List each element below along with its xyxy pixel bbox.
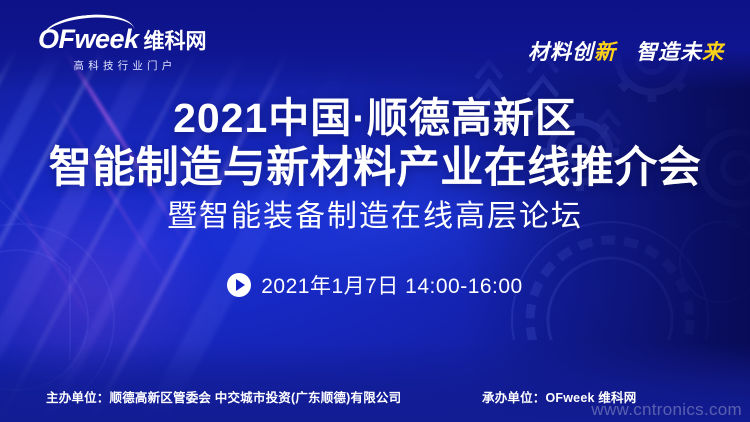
logo-subtitle: 高科技行业门户	[38, 58, 208, 73]
watermark: www.cntronics.com	[591, 400, 742, 420]
schedule-row: 2021年1月7日 14:00-16:00	[0, 270, 750, 300]
slogan: 材料创新 智造未来	[528, 36, 724, 66]
slogan-part-1-highlight: 新	[594, 41, 616, 64]
title-line-2: 智能制造与新材料产业在线推介会	[0, 144, 750, 192]
title-line-3: 暨智能装备制造在线高层论坛	[0, 200, 750, 233]
ofweek-logo[interactable]: OFweek 维科网 高科技行业门户	[38, 26, 208, 73]
slogan-part-1: 材料创新	[528, 36, 616, 66]
slogan-part-2: 智造未来	[636, 36, 724, 66]
slogan-part-1-prefix: 材料创	[528, 41, 594, 64]
logo-chinese-text: 维科网	[144, 31, 207, 53]
title-block: 2021中国·顺德高新区 智能制造与新材料产业在线推介会 暨智能装备制造在线高层…	[0, 96, 750, 233]
play-icon[interactable]	[227, 273, 251, 297]
event-datetime: 2021年1月7日 14:00-16:00	[261, 270, 523, 300]
slogan-part-2-highlight: 来	[702, 41, 724, 64]
event-poster: OFweek 维科网 高科技行业门户 材料创新 智造未来 2021中国·顺德高新…	[0, 0, 750, 422]
organizer-text: 主办单位：顺德高新区管委会 中交城市投资(广东顺德)有限公司	[46, 387, 401, 406]
title-line-1: 2021中国·顺德高新区	[0, 96, 750, 140]
slogan-part-2-prefix: 智造未	[636, 41, 702, 64]
